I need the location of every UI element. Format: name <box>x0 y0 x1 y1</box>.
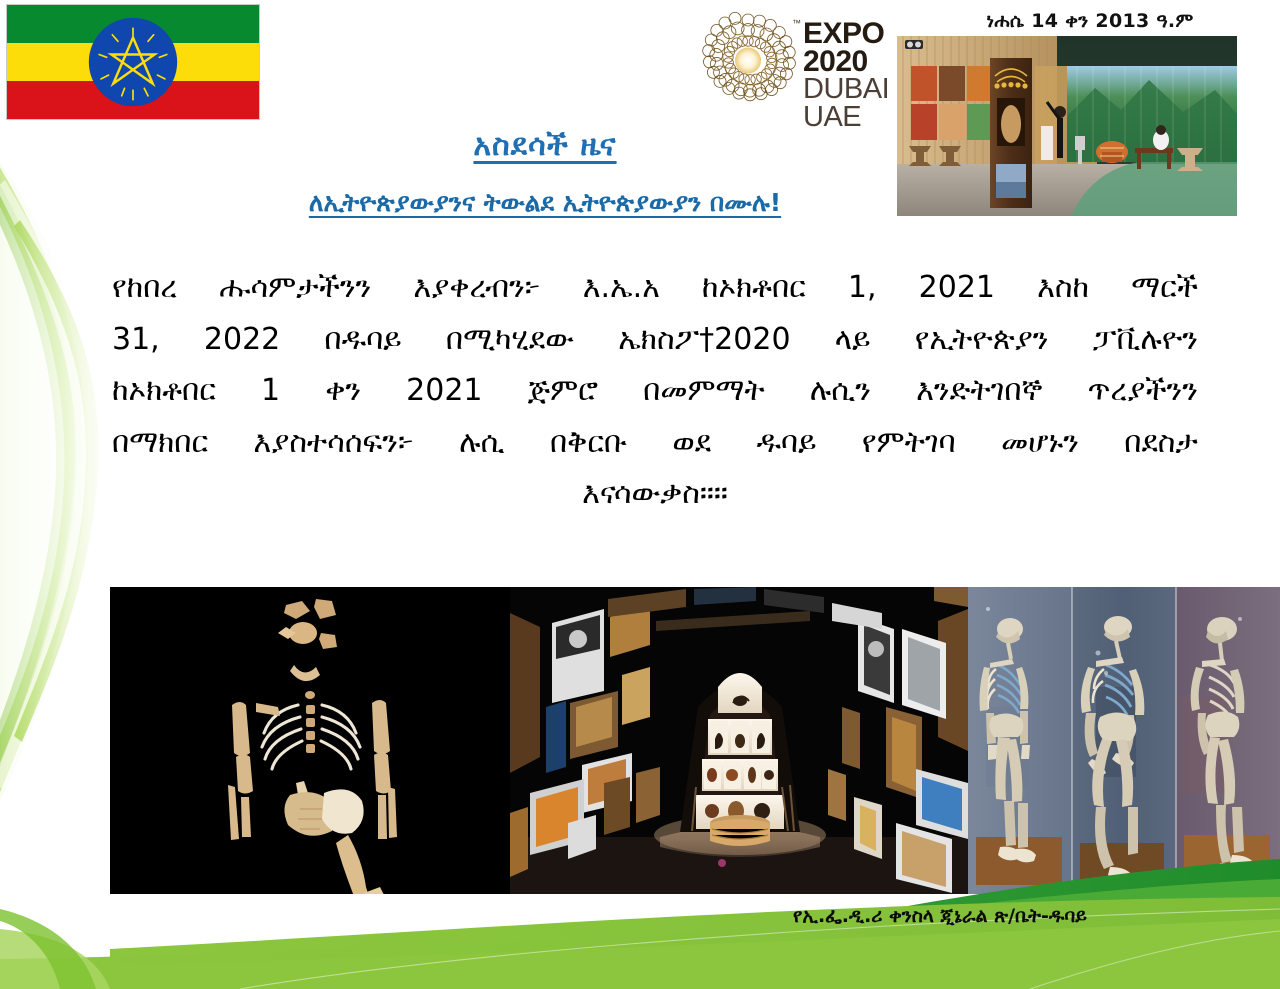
gallery-interior-photo <box>510 587 968 894</box>
flag-emblem-star <box>86 15 180 109</box>
body-word: ላይ <box>835 314 871 366</box>
body-line: በማክበርእያስተሳሰፍን፦ሉሲበቅርቡወደዱባይየምትገባመሆኑንበደስታ <box>112 417 1198 469</box>
body-word: የኢትዮጵያን <box>915 314 1049 366</box>
expo-word-uae: UAE <box>803 104 889 131</box>
body-word: እያቀረብን፦ <box>413 262 540 314</box>
article-body: የከበረሑሳምታችንንእያቀረብን፦እ.ኤ.አከኦክቶበር1,2021እስከማር… <box>112 262 1198 520</box>
body-word: እያስተሳሰፍን፦ <box>253 417 413 469</box>
expo-ring-mandala-icon: ™ <box>698 8 798 113</box>
body-word: ዱባይ <box>756 417 816 469</box>
body-word: ከኦክቶበር <box>112 365 216 417</box>
body-word: 31, <box>112 314 160 366</box>
body-line: የከበረሑሳምታችንንእያቀረብን፦እ.ኤ.አከኦክቶበር1,2021እስከማር… <box>112 262 1198 314</box>
body-line: እናሳውቃስ።። <box>112 468 1198 520</box>
pavilion-photo <box>897 36 1237 216</box>
body-word: ማርች <box>1131 262 1198 314</box>
body-word: ቀን <box>325 365 361 417</box>
body-word: እስከ <box>1037 262 1089 314</box>
body-line: 31,2022በዱባይበሚካሂደውኤክስፖ†2020ላይየኢትዮጵያንፓቪሉዮን <box>112 314 1198 366</box>
body-line: ከኦክቶበር1ቀን2021ጅምሮበመምማትሉሲንእንድትገበኞጥረያችንን <box>112 365 1198 417</box>
skeleton-display-photo <box>968 587 1280 894</box>
body-word: ሉሲን <box>810 365 871 417</box>
body-word: 1 <box>261 365 280 417</box>
body-word: 2022 <box>204 314 280 366</box>
photo-strip <box>110 587 1280 894</box>
body-word: የከበረ <box>112 262 177 314</box>
expo-word-expo: EXPO <box>803 20 889 48</box>
body-word: በመምማት <box>643 365 764 417</box>
headline-title: አስደሳች ዜና <box>330 128 760 163</box>
body-word: 2021 <box>919 262 995 314</box>
body-word: ሉሲ <box>459 417 504 469</box>
expo-word-2020: 2020 <box>803 48 889 76</box>
slide-canvas: ™ EXPO 2020 DUBAI UAE ነሐሴ 14 ቀን 2013 ዓ.ም <box>0 0 1280 989</box>
trademark-symbol: ™ <box>792 18 801 28</box>
body-word: መሆኑን <box>1001 417 1079 469</box>
body-word: ወደ <box>672 417 711 469</box>
body-word: የምትገባ <box>862 417 956 469</box>
body-word: ሑሳምታችንን <box>219 262 371 314</box>
body-word: በማክበር <box>112 417 208 469</box>
body-word: በደስታ <box>1124 417 1198 469</box>
expo-word-dubai: DUBAI <box>803 76 889 103</box>
ethiopian-flag <box>6 4 260 120</box>
headline-subtitle: ለኢትዮጵያውያንና ትውልደ ኢትዮጵያውያን በሙሉ! <box>200 188 890 218</box>
body-word: ጥረያችንን <box>1088 365 1198 417</box>
expo-logo-wordmark: EXPO 2020 DUBAI UAE <box>803 20 889 131</box>
body-word: 1, <box>848 262 877 314</box>
body-word: እንድትገበኞ <box>916 365 1042 417</box>
lucy-fossil-photo <box>110 587 510 894</box>
body-word: ጅምሮ <box>528 365 598 417</box>
body-word: ፓቪሉዮን <box>1093 314 1198 366</box>
footer-attribution: የኢ.ፌ.ዲ.ሪ ቀንስላ ጂኔራል ጽ/ቤት-ዱባይ <box>640 905 1240 927</box>
publication-date: ነሐሴ 14 ቀን 2013 ዓ.ም <box>900 10 1280 32</box>
body-word: በሚካሂደው <box>446 314 574 366</box>
body-word: በዱባይ <box>324 314 401 366</box>
expo-2020-dubai-logo: ™ EXPO 2020 DUBAI UAE <box>698 8 903 126</box>
body-word: በቅርቡ <box>550 417 627 469</box>
body-word: ኤክስፖ†2020 <box>618 314 790 366</box>
body-word: ከኦክቶበር <box>702 262 806 314</box>
body-word: 2021 <box>406 365 482 417</box>
body-word: እ.ኤ.አ <box>583 262 660 314</box>
